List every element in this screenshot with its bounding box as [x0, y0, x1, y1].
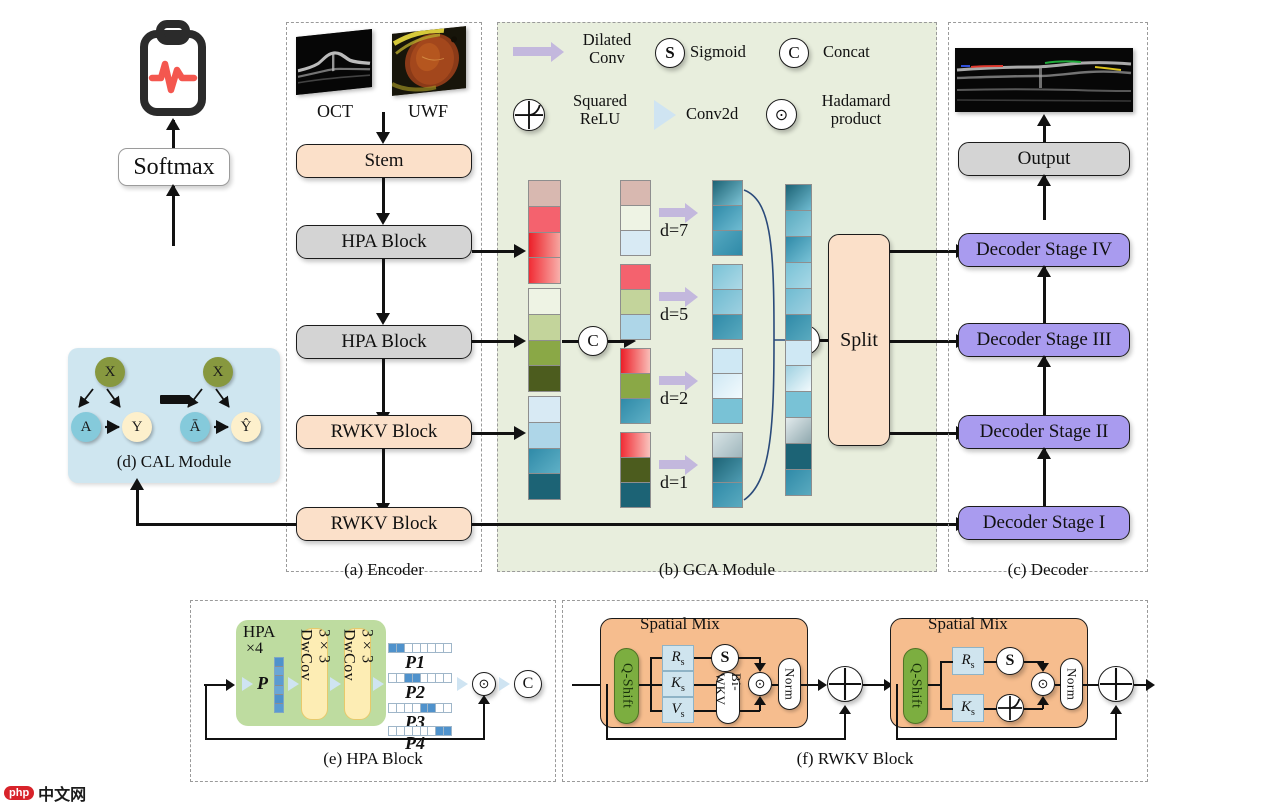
cell	[275, 667, 283, 676]
encoder-block-rwkv-2[interactable]: RWKV Block	[296, 507, 472, 541]
arrowhead-rwkv1-to-gca	[514, 426, 526, 440]
cell	[713, 206, 742, 231]
oct-segmentation-result-thumbnail	[955, 48, 1133, 112]
cell	[397, 704, 405, 712]
line-rwkv1-to-gca	[472, 432, 520, 435]
rwkv-biwkv-1[interactable]: Bi-WKV	[716, 672, 740, 724]
hpa-patch-label-1: P1	[405, 652, 425, 673]
cell	[786, 444, 811, 470]
cell	[428, 644, 436, 652]
line-hpa1-to-gca	[472, 250, 520, 253]
hpa-dwconv-1-label: 3×3 DwCov	[297, 629, 333, 719]
cell	[621, 349, 650, 374]
rwkv-gate-k-1-label: Ks	[671, 675, 685, 694]
decoder-stage-1[interactable]: Decoder Stage I	[958, 506, 1130, 540]
line-cal-vertical	[136, 484, 139, 524]
hpa-residual-down	[205, 684, 207, 740]
decoder-stage-3[interactable]: Decoder Stage III	[958, 323, 1130, 357]
cell	[713, 181, 742, 206]
hadamard-circle-icon: ⊙	[766, 99, 797, 130]
rwkv-residual-add-1	[827, 666, 863, 702]
cell	[786, 341, 811, 367]
squared-relu-circle-icon	[513, 99, 545, 131]
squared-relu-plus-1	[828, 667, 862, 701]
cell	[713, 458, 742, 483]
hadamard-glyph: ⊙	[775, 105, 788, 125]
cell	[275, 695, 283, 704]
rwkv-norm-2-label: Norm	[1064, 668, 1080, 700]
encoder-block-rwkv-1[interactable]: RWKV Block	[296, 415, 472, 449]
cell	[621, 483, 650, 507]
hpa-hadamard-circle[interactable]: ⊙	[472, 672, 496, 696]
cell	[421, 674, 429, 682]
rwkv-gate-r-1: Rs	[662, 645, 694, 671]
rwkv-hadamard-1-glyph: ⊙	[755, 676, 766, 692]
decoder-stage-4-label: Decoder Stage IV	[976, 239, 1112, 261]
cell	[405, 644, 413, 652]
hpa-conv2d-triangle-5	[457, 677, 468, 691]
rwkv2-hadamard-to-norm	[1055, 684, 1061, 686]
cell	[444, 727, 451, 735]
rwkv-hadamard-2[interactable]: ⊙	[1031, 672, 1055, 696]
hpa-repeat: ×4	[246, 640, 263, 658]
concat-glyph-legend: C	[788, 43, 799, 63]
encoder-block-hpa-1-label: HPA Block	[341, 231, 426, 253]
rwkv-sigmoid-1-glyph: S	[721, 649, 730, 667]
arrowhead-encoder-to-cal	[130, 478, 144, 490]
cell	[786, 315, 811, 341]
cell	[428, 704, 436, 712]
rwkv-qshift-2[interactable]: Q-Shift	[903, 648, 928, 724]
gca-merged-strip	[785, 184, 812, 496]
decoder-output-label: Output	[1018, 148, 1071, 170]
clipboard-heartbeat-icon	[137, 20, 209, 118]
rwkv1-hadamard-to-norm	[772, 684, 779, 686]
cell	[413, 674, 421, 682]
rwkv-qshift-2-label: Q-Shift	[908, 663, 924, 709]
cell	[621, 433, 650, 458]
gca-branch-output-4	[712, 432, 743, 508]
cell	[786, 418, 811, 444]
cell	[713, 290, 742, 315]
cell	[397, 674, 405, 682]
dilated-conv-arrow-1	[659, 208, 687, 217]
dilation-label-2: d=5	[660, 304, 688, 325]
legend-label-concat: Concat	[823, 43, 903, 61]
sigmoid-glyph: S	[665, 43, 674, 63]
hpa-conv2d-triangle-4	[373, 677, 384, 691]
cell	[529, 341, 560, 367]
cell	[529, 474, 560, 499]
rwkv2-sigmoid-arrowhead	[1037, 663, 1049, 672]
oct-scan-thumbnail	[296, 29, 372, 95]
concat-circle-1-glyph: C	[587, 331, 598, 351]
rwkv2-fanout-to-r	[940, 661, 953, 663]
rwkv1-k-to-biwkv	[694, 684, 716, 686]
legend-label-hadamard: Hadamard product	[804, 92, 908, 129]
caption-rwkv-block: (f) RWKV Block	[562, 749, 1148, 769]
rwkv1-biwkv-arrowhead	[754, 696, 766, 705]
sigmoid-circle-icon: S	[655, 38, 685, 68]
rwkv2-residual-left	[896, 684, 898, 739]
arrowhead-hpa1-to-hpa2	[376, 313, 390, 325]
caption-cal-module: (d) CAL Module	[68, 452, 280, 472]
concat-circle-icon-legend: C	[779, 38, 809, 68]
rwkv-hadamard-1[interactable]: ⊙	[748, 672, 772, 696]
rwkv2-fanout-mid	[928, 684, 941, 686]
cell	[621, 265, 650, 290]
cell	[436, 674, 444, 682]
cell	[529, 289, 560, 315]
arrowhead-inputs-to-stem	[376, 132, 390, 144]
concat-circle-1[interactable]: C	[578, 326, 608, 356]
hpa-hadamard-glyph: ⊙	[479, 676, 490, 692]
cell	[713, 374, 742, 399]
dilation-label-3: d=2	[660, 388, 688, 409]
dilation-label-1: d=7	[660, 220, 688, 241]
arrow-inputs-to-stem	[382, 112, 385, 134]
arrow-hpa2-to-rwkv1	[382, 359, 385, 417]
arrowhead-stage2-to-stage3	[1037, 355, 1051, 367]
softmax-block[interactable]: Softmax	[118, 148, 230, 186]
cell	[713, 399, 742, 423]
rwkv1-residual-arrowhead	[839, 705, 851, 714]
cell	[713, 265, 742, 290]
encoder-block-hpa-2[interactable]: HPA Block	[296, 325, 472, 359]
rwkv-qshift-1[interactable]: Q-Shift	[614, 648, 639, 724]
cell	[529, 315, 560, 341]
decoder-stage-2[interactable]: Decoder Stage II	[958, 415, 1130, 449]
rwkv-spatial-mix-2-title: Spatial Mix	[928, 614, 1008, 634]
rwkv2-fanout-to-k	[940, 708, 953, 710]
rwkv1-biwkv-bottom-line	[740, 710, 760, 712]
cell	[621, 315, 650, 339]
caption-hpa-block: (e) HPA Block	[190, 749, 556, 769]
cell	[275, 686, 283, 695]
gca-branch-output-3	[712, 348, 743, 424]
rwkv-hadamard-2-glyph: ⊙	[1038, 676, 1049, 692]
rwkv-gate-r-2-label: Rs	[961, 652, 974, 671]
cell	[436, 644, 444, 652]
fundus-photo-thumbnail	[392, 26, 466, 96]
rwkv1-sigmoid-arrowhead	[754, 663, 766, 672]
cell	[713, 433, 742, 458]
gca-branch-output-1	[712, 180, 743, 256]
gca-branch-input-1	[620, 180, 651, 256]
hpa-title: HPA	[243, 622, 275, 642]
dilation-label-4: d=1	[660, 472, 688, 493]
cell	[786, 211, 811, 237]
plus-icon-2	[1099, 667, 1133, 701]
arrowhead-stage1-to-stage2	[1037, 447, 1051, 459]
rwkv2-residual-bottom	[896, 738, 1116, 740]
cell	[786, 470, 811, 495]
rwkv2-residual-arrowhead	[1110, 705, 1122, 714]
rwkv-norm-1-label: Norm	[782, 668, 798, 700]
rwkv-gate-v-1: Vs	[662, 697, 694, 723]
cell	[397, 644, 405, 652]
caption-encoder: (a) Encoder	[286, 560, 482, 580]
rwkv1-residual-vertical	[844, 714, 846, 740]
cell	[786, 392, 811, 418]
rwkv-squared-relu-2[interactable]	[996, 694, 1024, 722]
arrowhead-stage3-to-stage4	[1037, 265, 1051, 277]
cell	[621, 181, 650, 206]
cell	[275, 658, 283, 667]
hpa-dwconv-2-label: 3×3 DwCov	[340, 629, 376, 719]
watermark: php 中文网	[4, 781, 86, 805]
cell	[621, 374, 650, 399]
dilated-conv-arrow-icon	[513, 47, 553, 56]
squared-relu-glyph	[514, 100, 544, 130]
decoder-stage-2-label: Decoder Stage II	[980, 421, 1109, 443]
rwkv2-r-to-sigmoid	[984, 661, 997, 663]
cell	[529, 366, 560, 391]
gca-split-label: Split	[840, 329, 878, 352]
gca-branch-output-2	[712, 264, 743, 340]
rwkv2-srelu-bottom-line	[1024, 708, 1043, 710]
hpa-concat-circle[interactable]: C	[514, 670, 542, 698]
cell	[275, 676, 283, 685]
encoder-block-rwkv-1-label: RWKV Block	[331, 421, 438, 443]
rwkv-sigmoid-2[interactable]: S	[996, 647, 1024, 675]
cell	[405, 704, 413, 712]
cell	[413, 644, 421, 652]
caption-gca-module: (b) GCA Module	[497, 560, 937, 580]
dilated-conv-arrow-3	[659, 376, 687, 385]
rwkv1-sigmoid-top-line	[738, 657, 760, 659]
cell	[529, 181, 560, 207]
squared-relu-icon	[997, 695, 1023, 721]
rwkv-sigmoid-2-glyph: S	[1006, 652, 1015, 670]
hpa-conv2d-triangle-6	[499, 677, 510, 691]
encoder-block-hpa-1[interactable]: HPA Block	[296, 225, 472, 259]
cell	[397, 727, 405, 735]
cell	[389, 704, 397, 712]
encoder-block-hpa-2-label: HPA Block	[341, 331, 426, 353]
cell	[428, 727, 436, 735]
cell	[529, 207, 560, 233]
rwkv1-fanout-to-v	[650, 710, 662, 712]
cell	[786, 237, 811, 263]
arrow-hpa1-to-hpa2	[382, 259, 385, 318]
rwkv1-fanout-to-r	[650, 657, 662, 659]
watermark-text: 中文网	[38, 781, 86, 805]
rwkv-norm-1[interactable]: Norm	[778, 658, 801, 710]
arrow-rwkv1-to-rwkv2	[382, 449, 385, 507]
gca-input-strip-green	[528, 288, 561, 392]
cell	[428, 674, 436, 682]
decoder-stage-3-label: Decoder Stage III	[976, 329, 1111, 351]
rwkv-gate-r-1-label: Rs	[671, 649, 684, 668]
legend-srelu-line2: ReLU	[556, 110, 644, 128]
legend-hadamard-line2: product	[804, 110, 908, 128]
cell	[405, 674, 413, 682]
cell	[713, 349, 742, 374]
cell	[621, 206, 650, 231]
conv2d-triangle-icon	[654, 100, 676, 130]
legend-dilated-line2: Conv	[565, 49, 649, 67]
gca-split-block[interactable]: Split	[828, 234, 890, 446]
arrow-stem-to-hpa1	[382, 178, 385, 216]
cell	[444, 704, 451, 712]
rwkv-gate-v-1-label: Vs	[671, 701, 684, 720]
legend-label-sigmoid: Sigmoid	[690, 43, 766, 61]
label-oct: OCT	[302, 101, 368, 122]
rwkv-residual-add-2	[1098, 666, 1134, 702]
figure-canvas: (a) Encoder OCT UWF Stem H	[0, 0, 1266, 806]
rwkv-output-arrowhead	[1146, 679, 1155, 691]
cell	[713, 231, 742, 255]
encoder-block-stem[interactable]: Stem	[296, 144, 472, 178]
legend-dilated-line1: Dilated	[565, 31, 649, 49]
cell	[621, 399, 650, 423]
encoder-block-rwkv-2-label: RWKV Block	[331, 513, 438, 535]
cell	[529, 397, 560, 423]
arrowhead-stage4-to-output	[1037, 174, 1051, 186]
decoder-stage-1-label: Decoder Stage I	[983, 512, 1105, 534]
cell	[421, 644, 429, 652]
rwkv-biwkv-1-label: Bi-WKV	[712, 673, 744, 723]
dilated-conv-arrow-2	[659, 292, 687, 301]
hpa-residual-up	[483, 702, 485, 740]
cell	[621, 458, 650, 483]
rwkv1-residual-bottom	[606, 738, 845, 740]
rwkv-gate-r-2: Rs	[952, 647, 984, 675]
cell	[389, 727, 397, 735]
arrowhead-softmax-to-report	[166, 118, 180, 130]
cell	[436, 727, 444, 735]
line-encoder-to-cal	[136, 523, 296, 526]
cell	[444, 644, 451, 652]
cell	[786, 185, 811, 211]
watermark-badge: php	[4, 786, 34, 800]
legend-label-conv2d: Conv2d	[686, 105, 758, 123]
rwkv1-r-to-sigmoid	[694, 657, 712, 659]
cell	[621, 290, 650, 315]
gca-branch-input-4	[620, 432, 651, 508]
rwkv1-v-to-biwkv	[694, 710, 716, 712]
cell	[621, 231, 650, 255]
legend-label-dilated-conv: Dilated Conv	[565, 31, 649, 68]
hpa-dwconv-1[interactable]: 3×3 DwCov	[301, 628, 328, 720]
rwkv-gate-k-2: Ks	[952, 694, 984, 722]
dilated-conv-arrow-4	[659, 460, 687, 469]
arrowhead-hpa1-to-gca	[514, 244, 526, 258]
rwkv1-fanout-to-k	[639, 684, 662, 686]
gca-input-strip-blue	[528, 396, 561, 500]
rwkv2-srelu-arrowhead	[1037, 696, 1049, 705]
softmax-label: Softmax	[133, 154, 214, 181]
cal-right-graph-edges	[169, 350, 279, 450]
cell	[713, 315, 742, 339]
cell	[529, 258, 560, 283]
cell	[529, 423, 560, 449]
hpa-p-vertical-strip	[274, 657, 284, 713]
arrowhead-output-to-result	[1037, 114, 1051, 126]
cell	[389, 644, 397, 652]
rwkv-spatial-mix-1-title: Spatial Mix	[640, 614, 720, 634]
cal-left-graph-edges	[60, 350, 170, 450]
rwkv-norm-2[interactable]: Norm	[1060, 658, 1083, 710]
decoder-stage-4[interactable]: Decoder Stage IV	[958, 233, 1130, 267]
cell	[389, 674, 397, 682]
rwkv-qshift-1-label: Q-Shift	[619, 663, 635, 709]
label-uwf: UWF	[394, 101, 462, 122]
line-hpa2-to-gca	[472, 340, 520, 343]
cell	[529, 449, 560, 475]
cell	[444, 674, 451, 682]
rwkv-sigmoid-1[interactable]: S	[711, 644, 739, 672]
rwkv1-norm-out-arrowhead	[818, 679, 827, 691]
legend-label-squared-relu: Squared ReLU	[556, 92, 644, 129]
caption-decoder: (c) Decoder	[948, 560, 1148, 580]
gca-branch-input-2	[620, 264, 651, 340]
hpa-p-label: P	[257, 673, 268, 694]
gca-branch-input-3	[620, 348, 651, 424]
decoder-output-block[interactable]: Output	[958, 142, 1130, 176]
gca-input-strip-red	[528, 180, 561, 284]
cell	[421, 704, 429, 712]
hpa-input-arrowhead	[226, 679, 235, 691]
rwkv2-residual-vertical	[1115, 714, 1117, 740]
arrowhead-stem-to-hpa1	[376, 213, 390, 225]
cell	[436, 704, 444, 712]
cell	[786, 263, 811, 289]
hpa-residual-arrowhead	[478, 695, 490, 704]
rwkv1-residual-left	[606, 684, 608, 739]
cell	[413, 704, 421, 712]
cell	[275, 704, 283, 712]
encoder-block-stem-label: Stem	[364, 150, 403, 172]
rwkv-gate-k-2-label: Ks	[961, 699, 975, 718]
hpa-dwconv-2[interactable]: 3×3 DwCov	[344, 628, 371, 720]
hpa-concat-glyph: C	[523, 675, 534, 693]
hpa-patch-label-4: P4	[405, 733, 425, 754]
cell	[786, 289, 811, 315]
legend-srelu-line1: Squared	[556, 92, 644, 110]
legend-hadamard-line1: Hadamard	[804, 92, 908, 110]
cell	[713, 483, 742, 507]
hpa-residual-bottom	[205, 738, 484, 740]
hpa-conv2d-triangle-1	[242, 677, 253, 691]
rwkv-gate-k-1: Ks	[662, 671, 694, 697]
hpa-patch-label-2: P2	[405, 682, 425, 703]
arrowhead-hpa2-to-gca	[514, 334, 526, 348]
arrowhead-cal-to-softmax	[166, 184, 180, 196]
line-encoder-to-decoder-1	[472, 523, 964, 526]
cell	[529, 233, 560, 259]
cell	[786, 366, 811, 392]
rwkv2-k-to-srelu	[984, 708, 997, 710]
